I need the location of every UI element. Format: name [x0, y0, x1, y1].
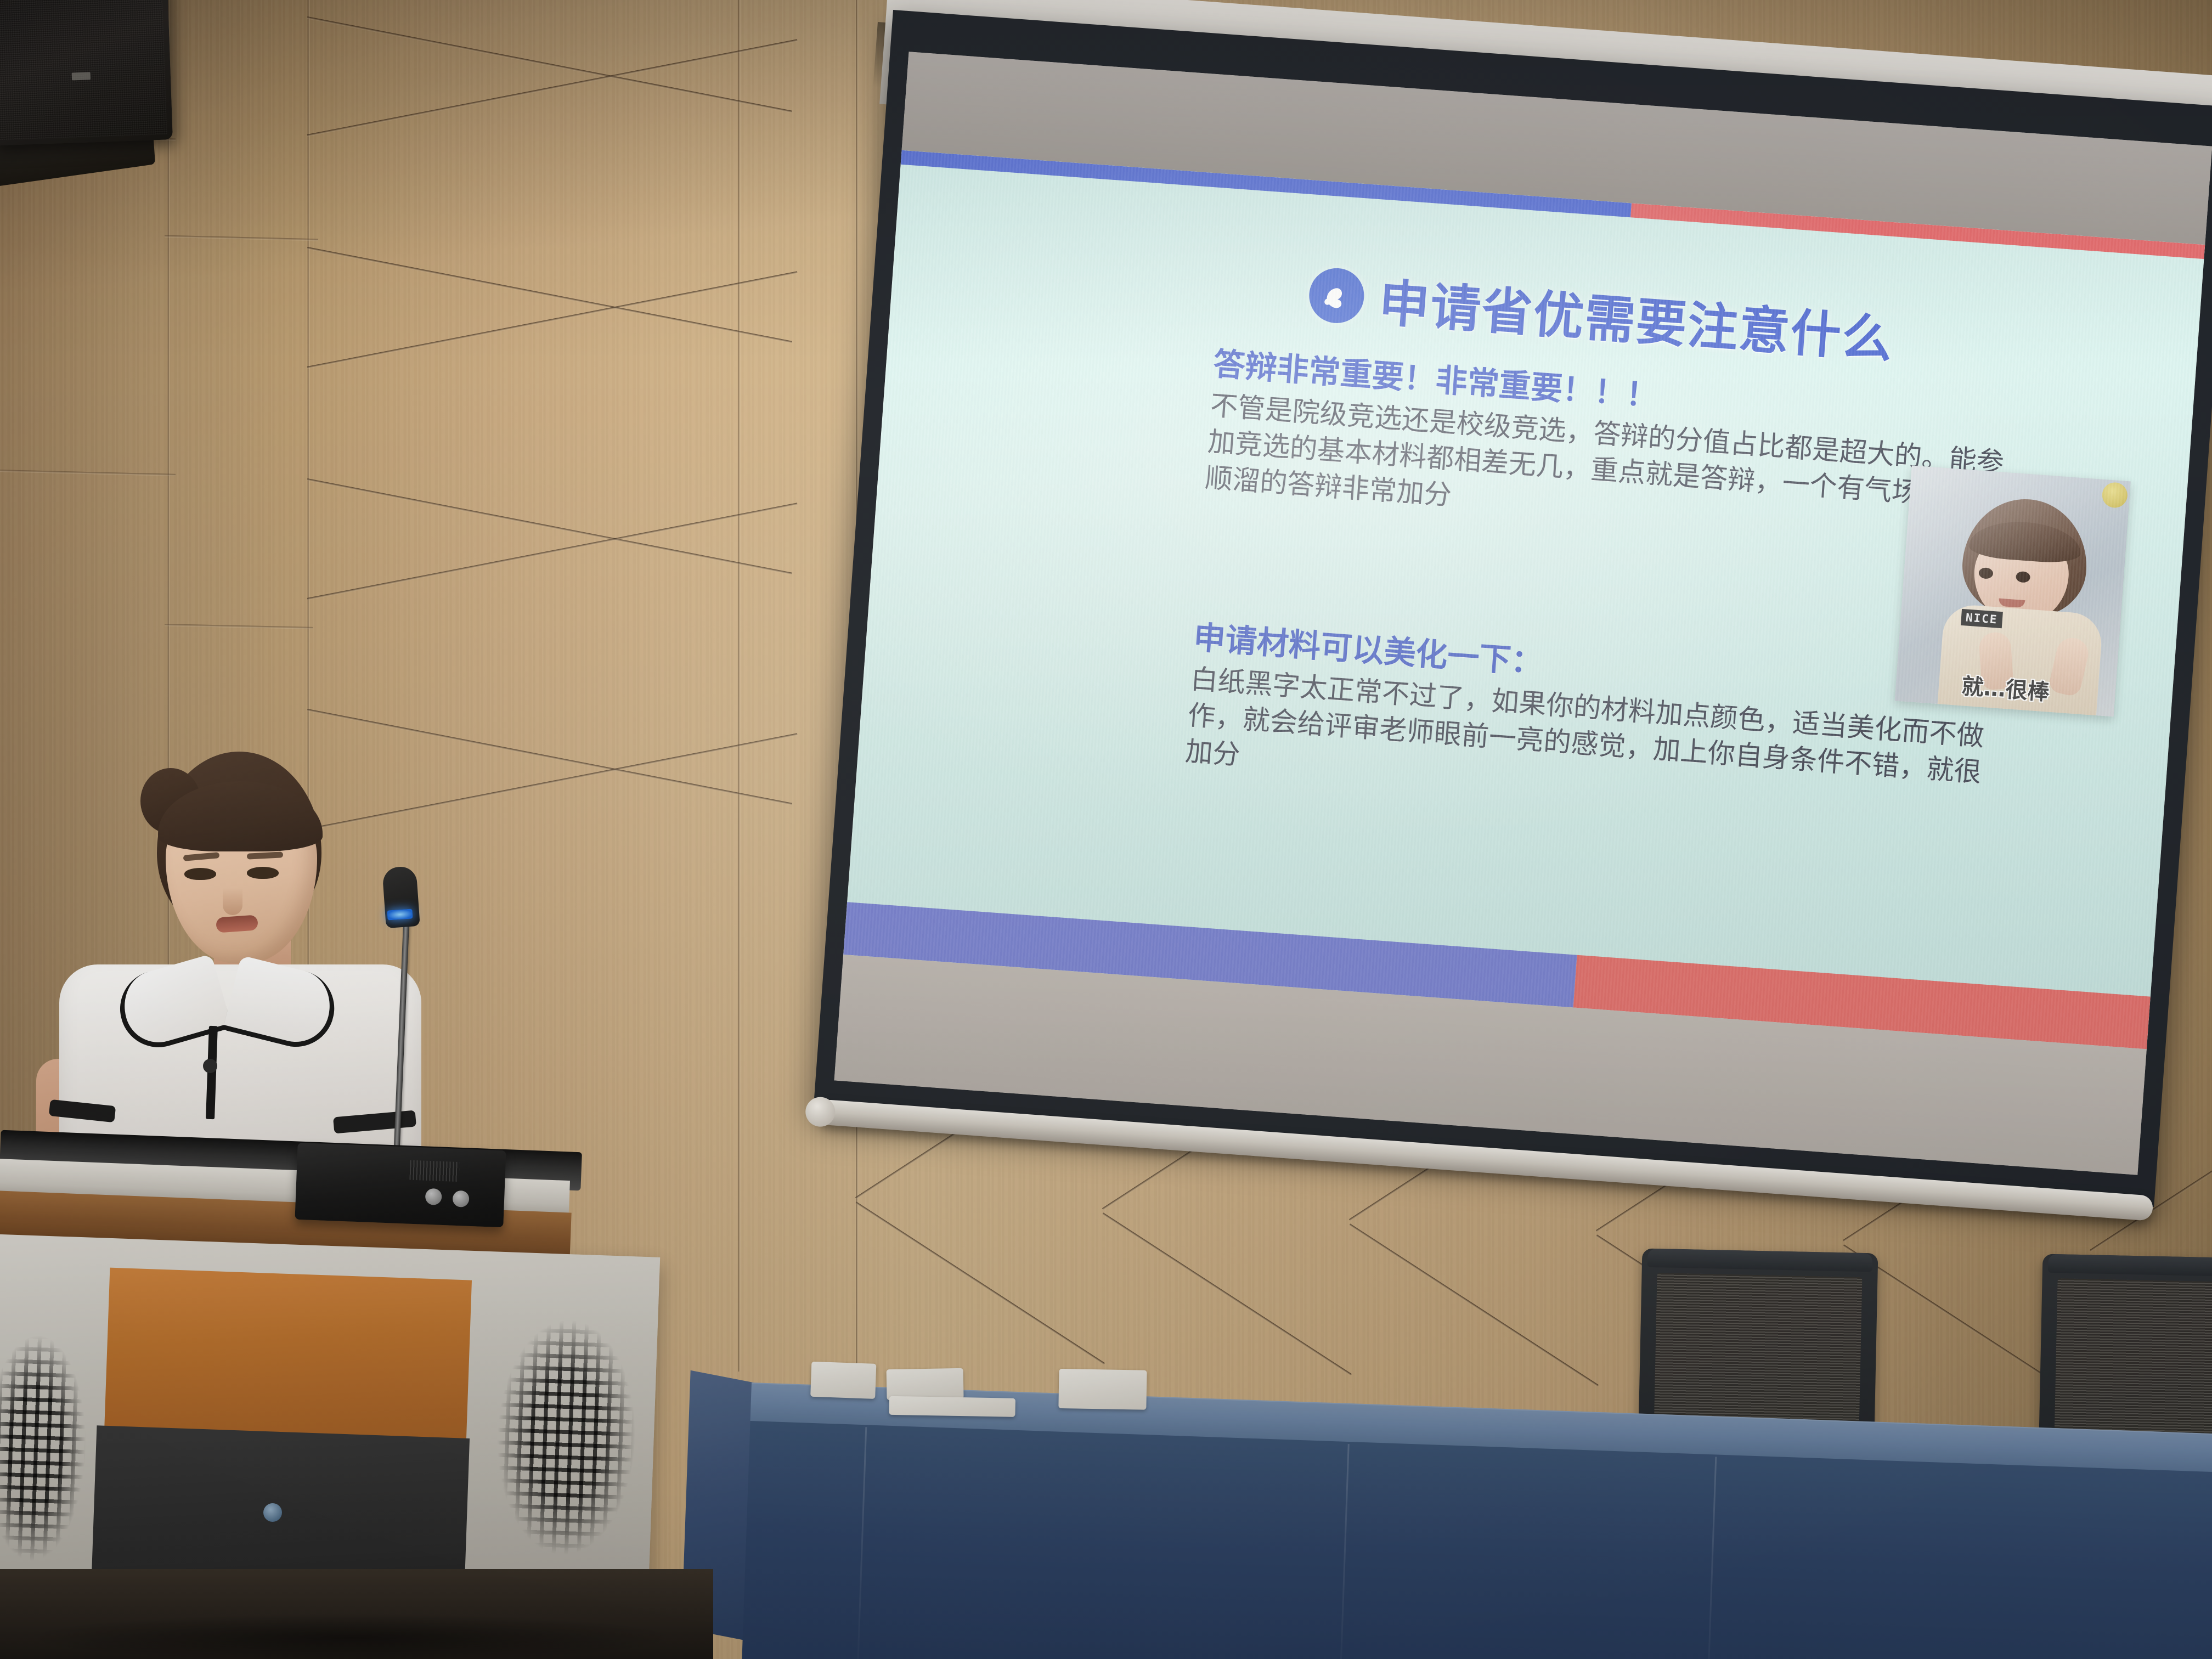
remote-control	[887, 1368, 964, 1400]
podium-speaker-grille-right	[479, 1303, 653, 1572]
podium-front-panel	[104, 1268, 472, 1445]
presenter-shirt-button	[203, 1059, 217, 1073]
microphone-base-unit[interactable]	[295, 1143, 506, 1227]
presenter-eye-right	[247, 867, 279, 879]
presenter	[49, 752, 433, 1190]
projection-screen-surface: 申请省优需要注意什么 答辩非常重要！非常重要！！！ 不管是院级竞选还是校级竞选，…	[834, 52, 2212, 1175]
slide-section-1: 答辩非常重要！非常重要！！！ 不管是院级竞选还是校级竞选，答辩的分值占比都是超大…	[1204, 338, 2025, 554]
thumbs-up-toddler-meme: NICE 就…很棒	[1895, 466, 2131, 717]
presenter-mouth	[216, 915, 258, 933]
mesh-office-chair	[2039, 1254, 2212, 1440]
projection-screen-assembly: 申请省优需要注意什么 答辩非常重要！非常重要！！！ 不管是院级竞选还是校级竞选，…	[810, 10, 2212, 1246]
microphone-mute-button[interactable]	[425, 1188, 442, 1205]
podium-speaker-grille-left	[0, 1320, 100, 1576]
chair-mesh-back	[1654, 1273, 1863, 1431]
meme-nice-badge: NICE	[1961, 609, 2003, 628]
presenter-eye-left	[184, 868, 216, 880]
ceiling-speaker	[0, 0, 173, 146]
microphone-status-led	[387, 909, 413, 920]
remote-control	[889, 1396, 1015, 1417]
chair-headrail	[2048, 1254, 2212, 1278]
speaker-grille-icon	[0, 0, 167, 140]
lecture-hall-scene: 申请省优需要注意什么 答辩非常重要！非常重要！！！ 不管是院级竞选还是校级竞选，…	[0, 0, 2212, 1659]
speaker-brand-label	[72, 72, 91, 80]
presentation-slide: 申请省优需要注意什么 答辩非常重要！非常重要！！！ 不管是院级竞选还是校级竞选，…	[843, 150, 2205, 1049]
slide-section-2: 申请材料可以美化一下： 白纸黑字太正常不过了，如果你的材料加点颜色，适当美化而不…	[1184, 612, 2005, 828]
flexed-biceps-icon	[1307, 266, 1366, 325]
chair-headrail	[1647, 1249, 1873, 1272]
microphone-talk-button[interactable]	[453, 1190, 470, 1207]
podium-floor-shadow	[22, 1613, 680, 1659]
remote-control	[1058, 1369, 1147, 1410]
chair-mesh-back	[2055, 1278, 2212, 1436]
presenter-nose	[223, 888, 242, 915]
microphone-base-vent	[409, 1160, 459, 1182]
mesh-office-chair	[1639, 1249, 1878, 1435]
name-card-holder	[810, 1362, 876, 1399]
